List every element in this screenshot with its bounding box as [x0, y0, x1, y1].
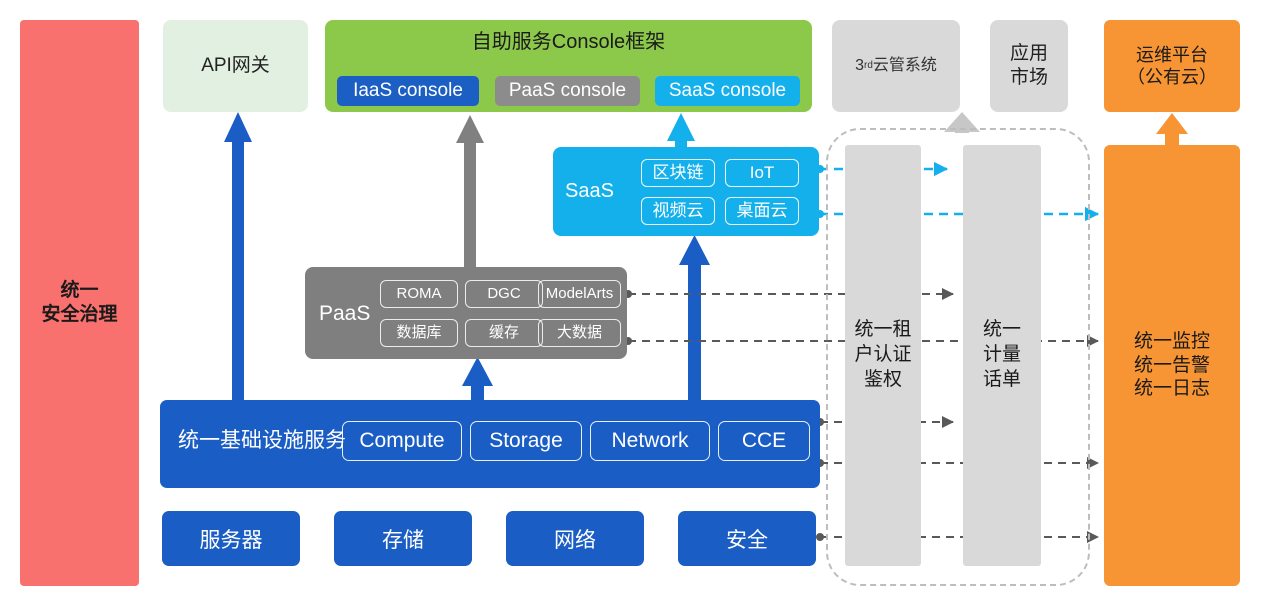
resource-box-security[interactable]: 安全 — [678, 511, 816, 566]
application-market-box[interactable]: 应用 市场 — [990, 20, 1068, 112]
unified-security-governance-panel: 统一 安全治理 — [20, 20, 139, 586]
third-cloud-main-label: 云管系统 — [873, 56, 937, 76]
infra-chip-cce[interactable]: CCE — [718, 421, 810, 461]
paas-chip-bigdata[interactable]: 大数据 — [538, 319, 621, 347]
paas-console-chip[interactable]: PaaS console — [495, 76, 640, 106]
paas-chip-database[interactable]: 数据库 — [380, 319, 458, 347]
arrow-infra-to-api-gateway — [224, 112, 252, 401]
third-cloud-superscript: rd — [864, 60, 873, 72]
infra-chip-compute[interactable]: Compute — [342, 421, 462, 461]
third-cloud-prefix: 3 — [855, 56, 864, 76]
saas-layer-label: SaaS — [565, 179, 614, 204]
saas-console-chip[interactable]: SaaS console — [655, 76, 800, 106]
infra-chip-storage[interactable]: Storage — [470, 421, 582, 461]
unified-metering-billing-column: 统一 计量 话单 — [963, 145, 1041, 566]
paas-chip-cache[interactable]: 缓存 — [465, 319, 543, 347]
unified-infrastructure-service-box: 统一基础设施服务 Compute Storage Network CCE — [160, 400, 820, 488]
iaas-console-chip[interactable]: IaaS console — [337, 76, 479, 106]
arrow-paas-to-console — [456, 115, 484, 268]
unified-tenant-auth-column: 统一租 户认证 鉴权 — [845, 145, 921, 566]
resource-box-network[interactable]: 网络 — [506, 511, 644, 566]
api-gateway-box[interactable]: API网关 — [163, 20, 308, 112]
saas-chip-desktop-cloud[interactable]: 桌面云 — [725, 197, 799, 225]
third-party-cloud-management-box[interactable]: 3rd云管系统 — [832, 20, 960, 112]
unified-infrastructure-label: 统一基础设施服务 — [178, 428, 346, 454]
resource-box-server[interactable]: 服务器 — [162, 511, 300, 566]
paas-chip-modelarts[interactable]: ModelArts — [538, 280, 621, 308]
saas-chip-iot[interactable]: IoT — [725, 159, 799, 187]
self-service-console-framework: 自助服务Console框架 IaaS console PaaS console … — [325, 20, 812, 112]
infra-chip-network[interactable]: Network — [590, 421, 710, 461]
saas-chip-video-cloud[interactable]: 视频云 — [641, 197, 715, 225]
unified-monitoring-alarm-log-panel: 统一监控 统一告警 统一日志 — [1104, 145, 1240, 586]
saas-chip-blockchain[interactable]: 区块链 — [641, 159, 715, 187]
saas-layer-box: SaaS 区块链 IoT 视频云 桌面云 — [553, 147, 819, 236]
arrow-ops-side-to-ops-top — [1156, 113, 1188, 146]
resource-box-storage[interactable]: 存储 — [334, 511, 472, 566]
arrow-infra-to-paas — [462, 357, 493, 402]
paas-layer-label: PaaS — [319, 301, 370, 327]
paas-layer-box: PaaS ROMA DGC ModelArts 数据库 缓存 大数据 — [305, 267, 627, 359]
console-framework-title: 自助服务Console框架 — [325, 30, 812, 55]
architecture-diagram: 统一 安全治理 API网关 自助服务Console框架 IaaS console… — [0, 0, 1265, 605]
paas-chip-dgc[interactable]: DGC — [465, 280, 543, 308]
ops-platform-public-cloud-box[interactable]: 运维平台 （公有云） — [1104, 20, 1240, 112]
paas-chip-roma[interactable]: ROMA — [380, 280, 458, 308]
arrow-infra-to-saas — [679, 235, 710, 402]
